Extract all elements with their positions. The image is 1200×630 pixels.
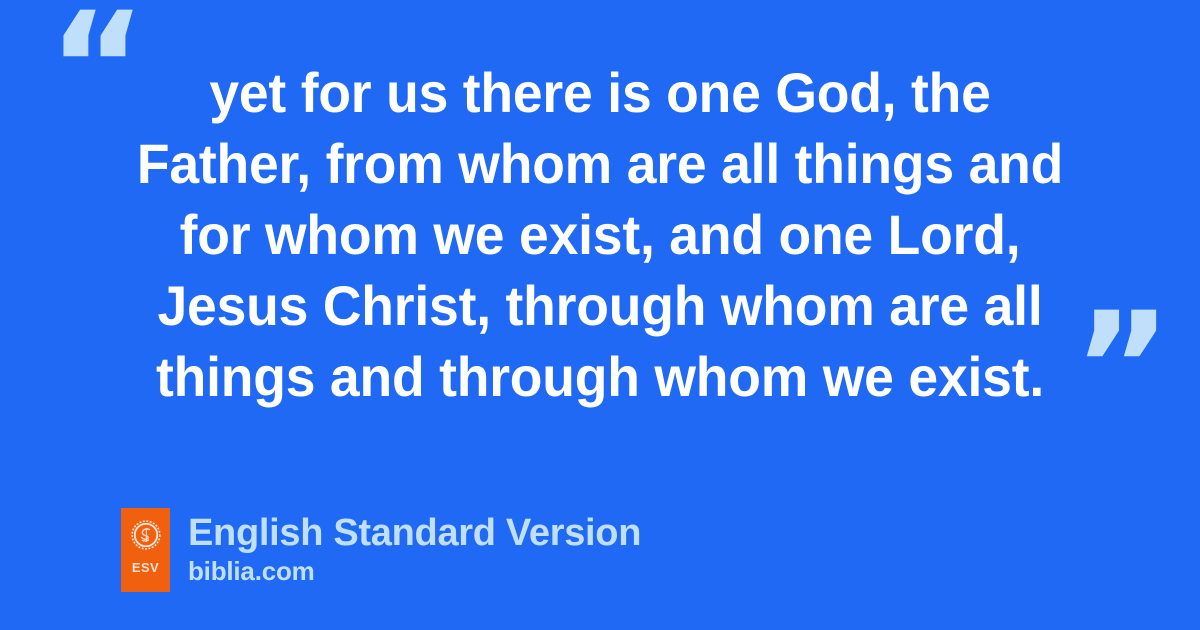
quote-text: yet for us there is one God, the Father,…	[123, 57, 1078, 412]
close-quote-icon: ”	[1073, 293, 1170, 443]
attribution: ESV English Standard Version biblia.com	[121, 508, 641, 592]
attribution-text: English Standard Version biblia.com	[188, 508, 641, 585]
site-url[interactable]: biblia.com	[188, 557, 641, 585]
quote-line: things and through whom we exist.	[123, 341, 1078, 412]
esv-seal-icon	[131, 520, 161, 550]
quote-line: Jesus Christ, through whom are all	[123, 270, 1078, 341]
bible-version-name: English Standard Version	[188, 512, 641, 554]
quote-block: “ yet for us there is one God, the Fathe…	[0, 0, 1200, 440]
esv-logo: ESV	[121, 508, 170, 592]
bible-verse-card: “ yet for us there is one God, the Fathe…	[0, 0, 1200, 630]
quote-line: yet for us there is one God, the	[123, 57, 1078, 128]
quote-line: for whom we exist, and one Lord,	[123, 199, 1078, 270]
esv-logo-label: ESV	[132, 561, 159, 574]
quote-line: Father, from whom are all things and	[123, 128, 1078, 199]
